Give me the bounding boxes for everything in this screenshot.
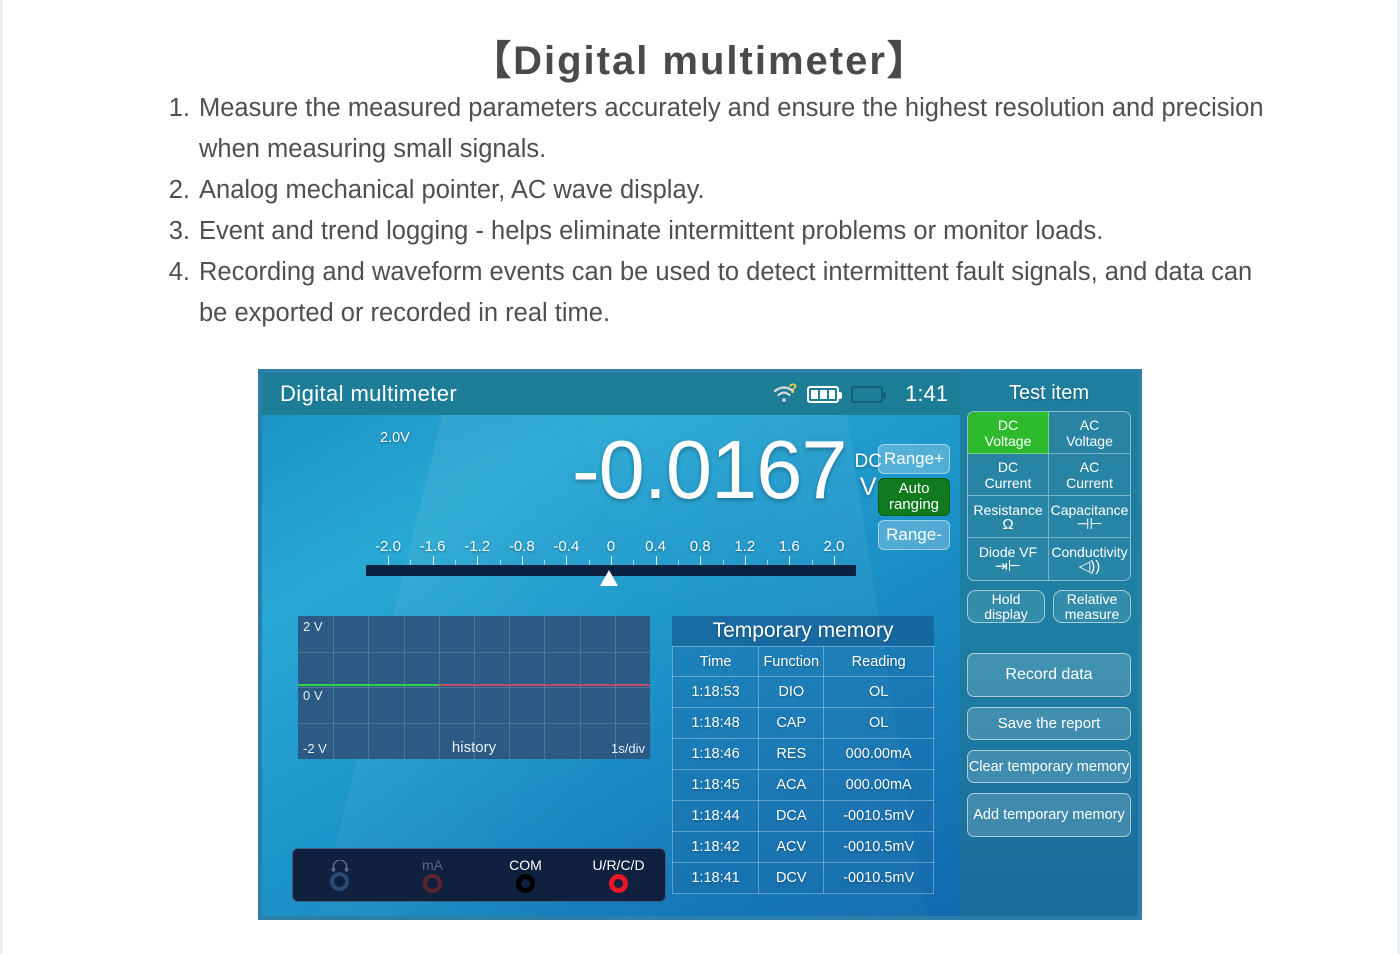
jack-com[interactable]: COM	[479, 849, 572, 901]
column-header-function: Function	[759, 647, 824, 677]
cell-function: ACA	[759, 770, 824, 801]
test-item-label-line2: Current	[985, 475, 1032, 491]
jack-hole-icon	[516, 874, 535, 893]
list-item: 3. Event and trend logging - helps elimi…	[160, 211, 1270, 252]
cell-reading: OL	[824, 677, 934, 708]
cell-function: RES	[759, 739, 824, 770]
list-item-number: 1.	[160, 88, 190, 129]
graph-caption: history	[452, 739, 496, 756]
temporary-memory-panel: Temporary memory Time Function Reading 1…	[672, 616, 934, 894]
scale-tick-marks	[366, 556, 856, 565]
test-item-label-line2: Current	[1066, 475, 1113, 491]
input-jack-panel: mA COM U/R/C/D	[292, 848, 666, 902]
jack-ma[interactable]: mA	[386, 849, 479, 901]
scale-tick-label: 0	[589, 538, 633, 555]
cell-time: 1:18:42	[673, 832, 759, 863]
temporary-memory-title: Temporary memory	[672, 616, 934, 646]
scale-tick-label: 2.0	[812, 538, 856, 555]
relative-measure-line2: measure	[1065, 607, 1119, 622]
battery-empty-icon	[851, 386, 883, 403]
multimeter-screen: Digital multimeter ? 1:41 2.0V	[262, 373, 960, 916]
graph-timebase-label: 1s/div	[611, 741, 645, 756]
table-row[interactable]: 1:18:45ACA000.00mA	[673, 770, 934, 801]
list-item-text: Recording and waveform events can be use…	[199, 252, 1270, 334]
temporary-memory-table: Time Function Reading 1:18:53DIOOL1:18:4…	[672, 646, 934, 894]
scale-tick-label: -0.8	[500, 538, 544, 555]
auto-ranging-line2: ranging	[889, 497, 939, 513]
cell-reading: -0010.5mV	[824, 801, 934, 832]
table-header-row: Time Function Reading	[673, 647, 934, 677]
hold-display-line2: display	[984, 607, 1028, 622]
cell-function: ACV	[759, 832, 824, 863]
reading-value: -0.0167	[572, 431, 847, 508]
graph-trace-green	[298, 684, 439, 686]
cell-reading: -0010.5mV	[824, 863, 934, 894]
scale-tick-label: 1.2	[723, 538, 767, 555]
table-row[interactable]: 1:18:42ACV-0010.5mV	[673, 832, 934, 863]
test-item-symbol-icon: ⇥⊢	[995, 560, 1021, 574]
test-item-label-line1: DC	[998, 459, 1018, 475]
relative-measure-line1: Relative	[1067, 592, 1118, 607]
graph-y-mid-label: 0 V	[303, 688, 323, 703]
graph-y-top-label: 2 V	[303, 619, 323, 634]
test-item-conductivity[interactable]: Conductivity◁))	[1049, 538, 1130, 580]
list-item-number: 2.	[160, 170, 190, 211]
jack-hole-icon	[609, 874, 628, 893]
table-row[interactable]: 1:18:48CAPOL	[673, 708, 934, 739]
list-item: 2. Analog mechanical pointer, AC wave di…	[160, 170, 1270, 211]
question-mark-badge: ?	[789, 380, 798, 396]
scale-tick-label: -0.4	[544, 538, 588, 555]
page-title: 【Digital multimeter】	[0, 28, 1400, 86]
cell-function: DCV	[759, 863, 824, 894]
panel-action-group: Record data Save the report Clear tempor…	[967, 653, 1131, 837]
scale-tick-labels: -2.0-1.6-1.2-0.8-0.400.40.81.21.62.0	[366, 538, 856, 555]
cell-time: 1:18:46	[673, 739, 759, 770]
jack-label: U/R/C/D	[592, 857, 644, 873]
battery-full-icon	[807, 386, 839, 403]
scale-tick-label: -2.0	[366, 538, 410, 555]
cell-function: DCA	[759, 801, 824, 832]
scale-tick-label: 0.8	[678, 538, 722, 555]
test-item-dc-current[interactable]: DCCurrent	[968, 454, 1049, 496]
status-bar: Digital multimeter ? 1:41	[262, 373, 960, 415]
test-item-label-line1: DC	[998, 417, 1018, 433]
test-item-symbol-icon: Ω	[1002, 518, 1013, 532]
graph-y-bottom-label: -2 V	[303, 741, 327, 756]
test-item-label-line2: Voltage	[1066, 433, 1113, 449]
scale-tick-label: -1.6	[411, 538, 455, 555]
graph-trace-red	[439, 684, 650, 686]
jack-hole-icon	[423, 874, 442, 893]
feature-list: 1. Measure the measured parameters accur…	[160, 88, 1270, 334]
list-item-text: Measure the measured parameters accurate…	[199, 88, 1270, 170]
table-row[interactable]: 1:18:41DCV-0010.5mV	[673, 863, 934, 894]
history-graph: 2 V 0 V -2 V history 1s/div	[298, 616, 650, 759]
list-item-number: 4.	[160, 252, 190, 293]
range-plus-button[interactable]: Range+	[878, 444, 950, 474]
jack-label: COM	[509, 857, 542, 873]
test-item-label-line1: AC	[1080, 417, 1099, 433]
cell-time: 1:18:45	[673, 770, 759, 801]
test-item-panel: Test item DCVoltageACVoltageDCCurrentACC…	[960, 373, 1138, 916]
test-item-ac-voltage[interactable]: ACVoltage	[1049, 412, 1130, 454]
cell-function: CAP	[759, 708, 824, 739]
list-item-number: 3.	[160, 211, 190, 252]
measure-mode-row: Hold display Relative measure	[967, 590, 1131, 623]
jack-headphone[interactable]	[293, 849, 386, 901]
hold-display-button[interactable]: Hold display	[967, 590, 1045, 623]
table-row[interactable]: 1:18:46RES000.00mA	[673, 739, 934, 770]
status-icon-group: ? 1:41	[773, 381, 948, 407]
clear-temporary-memory-button[interactable]: Clear temporary memory	[967, 750, 1131, 783]
add-temporary-memory-button[interactable]: Add temporary memory	[967, 793, 1131, 837]
analog-scale: -2.0-1.6-1.2-0.8-0.400.40.81.21.62.0	[366, 538, 856, 576]
test-item-label-line1: AC	[1080, 459, 1099, 475]
list-item-text: Event and trend logging - helps eliminat…	[199, 211, 1270, 252]
test-item-grid: DCVoltageACVoltageDCCurrentACCurrentResi…	[967, 411, 1131, 581]
primary-reading: -0.0167 DC V	[262, 431, 882, 508]
hold-display-line1: Hold	[992, 592, 1021, 607]
relative-measure-button[interactable]: Relative measure	[1053, 590, 1131, 623]
jack-urcd[interactable]: U/R/C/D	[572, 849, 665, 901]
analog-pointer	[600, 570, 618, 586]
jack-label: mA	[422, 857, 443, 873]
scale-tick-label: -1.2	[455, 538, 499, 555]
jack-hole-icon	[330, 872, 349, 891]
test-item-panel-title: Test item	[967, 382, 1131, 405]
auto-ranging-line1: Auto	[899, 481, 930, 497]
cell-function: DIO	[759, 677, 824, 708]
test-item-diode-vf[interactable]: Diode VF⇥⊢	[968, 538, 1049, 580]
cell-time: 1:18:44	[673, 801, 759, 832]
cell-time: 1:18:53	[673, 677, 759, 708]
column-header-reading: Reading	[824, 647, 934, 677]
save-report-button[interactable]: Save the report	[967, 707, 1131, 740]
wifi-question-icon: ?	[773, 384, 795, 404]
list-item-text: Analog mechanical pointer, AC wave displ…	[199, 170, 1270, 211]
scale-tick-label: 1.6	[767, 538, 811, 555]
range-minus-button[interactable]: Range-	[878, 520, 950, 550]
list-item: 1. Measure the measured parameters accur…	[160, 88, 1270, 170]
test-item-resistance[interactable]: ResistanceΩ	[968, 496, 1049, 538]
multimeter-device: Digital multimeter ? 1:41 2.0V	[258, 369, 1142, 920]
table-row[interactable]: 1:18:53DIOOL	[673, 677, 934, 708]
cell-time: 1:18:48	[673, 708, 759, 739]
cell-reading: 000.00mA	[824, 770, 934, 801]
cell-reading: OL	[824, 708, 934, 739]
test-item-symbol-icon: ◁))	[1079, 560, 1101, 574]
column-header-time: Time	[673, 647, 759, 677]
device-title: Digital multimeter	[280, 381, 773, 407]
status-clock: 1:41	[905, 381, 948, 407]
cell-time: 1:18:41	[673, 863, 759, 894]
test-item-capacitance[interactable]: Capacitance⊣⊢	[1049, 496, 1130, 538]
list-item: 4. Recording and waveform events can be …	[160, 252, 1270, 334]
test-item-ac-current[interactable]: ACCurrent	[1049, 454, 1130, 496]
cell-reading: 000.00mA	[824, 739, 934, 770]
test-item-symbol-icon: ⊣⊢	[1076, 518, 1102, 532]
scale-tick-label: 0.4	[634, 538, 678, 555]
table-row[interactable]: 1:18:44DCA-0010.5mV	[673, 801, 934, 832]
range-button-group: Range+ Auto ranging Range-	[878, 444, 950, 550]
auto-ranging-button[interactable]: Auto ranging	[878, 478, 950, 516]
headphone-icon	[331, 859, 349, 871]
cell-reading: -0010.5mV	[824, 832, 934, 863]
reading-unit: V	[860, 473, 877, 502]
test-item-label-line2: Voltage	[985, 433, 1032, 449]
test-item-dc-voltage[interactable]: DCVoltage	[968, 412, 1049, 454]
record-data-button[interactable]: Record data	[967, 653, 1131, 697]
